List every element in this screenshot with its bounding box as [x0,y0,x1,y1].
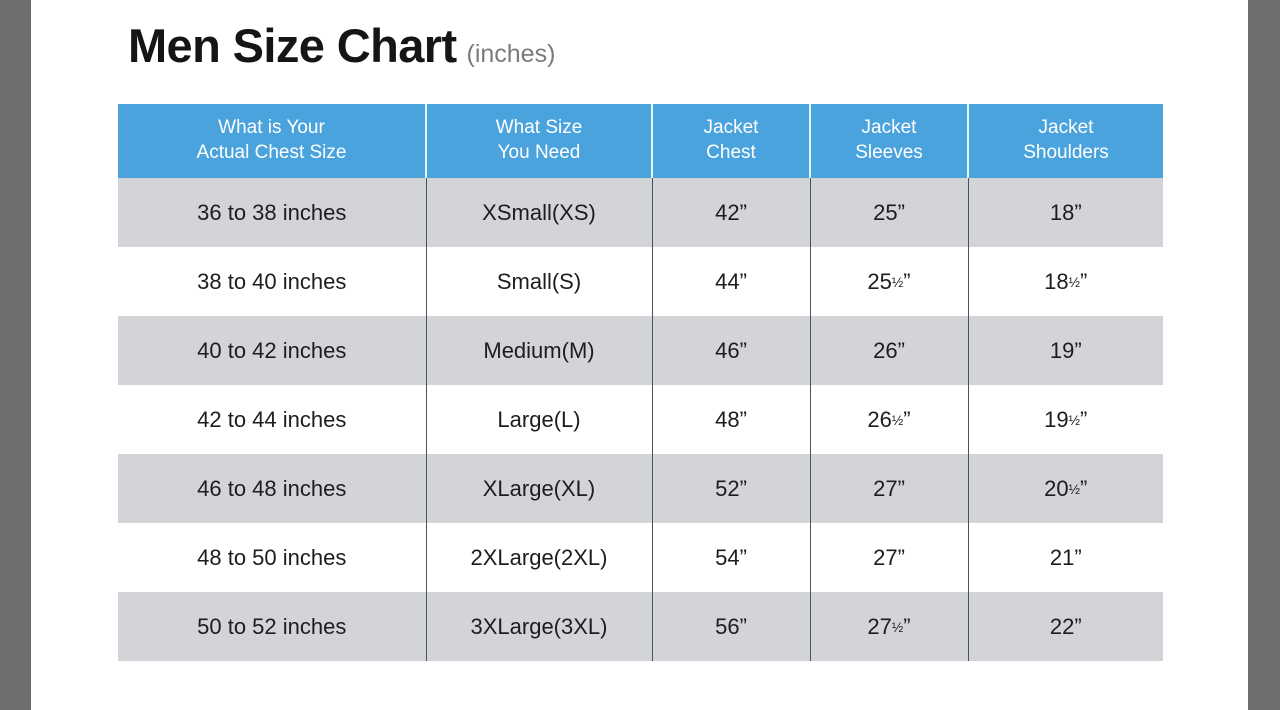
table-row: 48 to 50 inches2XLarge(2XL)54”27”21” [118,523,1163,592]
half-fraction: ½ [892,619,903,634]
cell-jacket-chest: 54” [652,523,810,592]
column-header-size-you-need: What Size You Need [426,104,652,178]
column-header-jacket-chest: Jacket Chest [652,104,810,178]
page-title-unit: (inches) [467,42,556,67]
cell-actual-chest-size: 42 to 44 inches [118,385,426,454]
letterbox-band-right [1248,0,1280,710]
cell-jacket-sleeves: 27½” [810,592,968,661]
table-row: 42 to 44 inchesLarge(L)48”26½”19½” [118,385,1163,454]
cell-jacket-chest: 52” [652,454,810,523]
cell-jacket-sleeves: 26” [810,316,968,385]
cell-actual-chest-size: 38 to 40 inches [118,247,426,316]
cell-jacket-sleeves: 25” [810,178,968,247]
slide-surface: Men Size Chart (inches) What is Your Act… [31,0,1248,710]
table-row: 50 to 52 inches3XLarge(3XL)56”27½”22” [118,592,1163,661]
cell-jacket-sleeves: 26½” [810,385,968,454]
half-fraction: ½ [892,274,903,289]
half-fraction: ½ [892,412,903,427]
page-title-main: Men Size Chart [128,22,457,69]
table-row: 46 to 48 inchesXLarge(XL)52”27”20½” [118,454,1163,523]
cell-size-you-need: XSmall(XS) [426,178,652,247]
table-row: 36 to 38 inchesXSmall(XS)42”25”18” [118,178,1163,247]
cell-jacket-shoulders: 20½” [968,454,1163,523]
inch-mark: ” [1080,269,1087,294]
cell-actual-chest-size: 36 to 38 inches [118,178,426,247]
cell-actual-chest-size: 46 to 48 inches [118,454,426,523]
inch-mark: ” [1080,407,1087,432]
cell-actual-chest-size: 48 to 50 inches [118,523,426,592]
cell-jacket-sleeves: 27” [810,523,968,592]
column-header-actual-chest-size: What is Your Actual Chest Size [118,104,426,178]
cell-jacket-shoulders: 22” [968,592,1163,661]
cell-jacket-shoulders: 19” [968,316,1163,385]
cell-jacket-sleeves: 27” [810,454,968,523]
cell-jacket-chest: 46” [652,316,810,385]
cell-jacket-shoulders: 19½” [968,385,1163,454]
inch-mark: ” [903,614,910,639]
cell-size-you-need: XLarge(XL) [426,454,652,523]
inch-mark: ” [903,407,910,432]
cell-jacket-chest: 42” [652,178,810,247]
table-row: 38 to 40 inchesSmall(S)44”25½”18½” [118,247,1163,316]
cell-jacket-sleeves: 25½” [810,247,968,316]
cell-size-you-need: 3XLarge(3XL) [426,592,652,661]
inch-mark: ” [1080,476,1087,501]
table-header: What is Your Actual Chest Size What Size… [118,104,1163,178]
cell-jacket-chest: 48” [652,385,810,454]
half-fraction: ½ [1069,274,1080,289]
page-title: Men Size Chart (inches) [128,22,555,69]
cell-jacket-shoulders: 21” [968,523,1163,592]
size-chart-table: What is Your Actual Chest Size What Size… [118,104,1163,661]
letterbox-band-left [0,0,31,710]
cell-actual-chest-size: 40 to 42 inches [118,316,426,385]
cell-jacket-chest: 56” [652,592,810,661]
cell-size-you-need: 2XLarge(2XL) [426,523,652,592]
cell-jacket-chest: 44” [652,247,810,316]
cell-size-you-need: Small(S) [426,247,652,316]
half-fraction: ½ [1069,481,1080,496]
slide-stage: Men Size Chart (inches) What is Your Act… [0,0,1280,710]
table-header-row: What is Your Actual Chest Size What Size… [118,104,1163,178]
cell-actual-chest-size: 50 to 52 inches [118,592,426,661]
table-row: 40 to 42 inchesMedium(M)46”26”19” [118,316,1163,385]
column-header-jacket-shoulders: Jacket Shoulders [968,104,1163,178]
column-header-jacket-sleeves: Jacket Sleeves [810,104,968,178]
table-body: 36 to 38 inchesXSmall(XS)42”25”18”38 to … [118,178,1163,661]
inch-mark: ” [903,269,910,294]
cell-jacket-shoulders: 18½” [968,247,1163,316]
half-fraction: ½ [1069,412,1080,427]
cell-size-you-need: Large(L) [426,385,652,454]
cell-jacket-shoulders: 18” [968,178,1163,247]
cell-size-you-need: Medium(M) [426,316,652,385]
